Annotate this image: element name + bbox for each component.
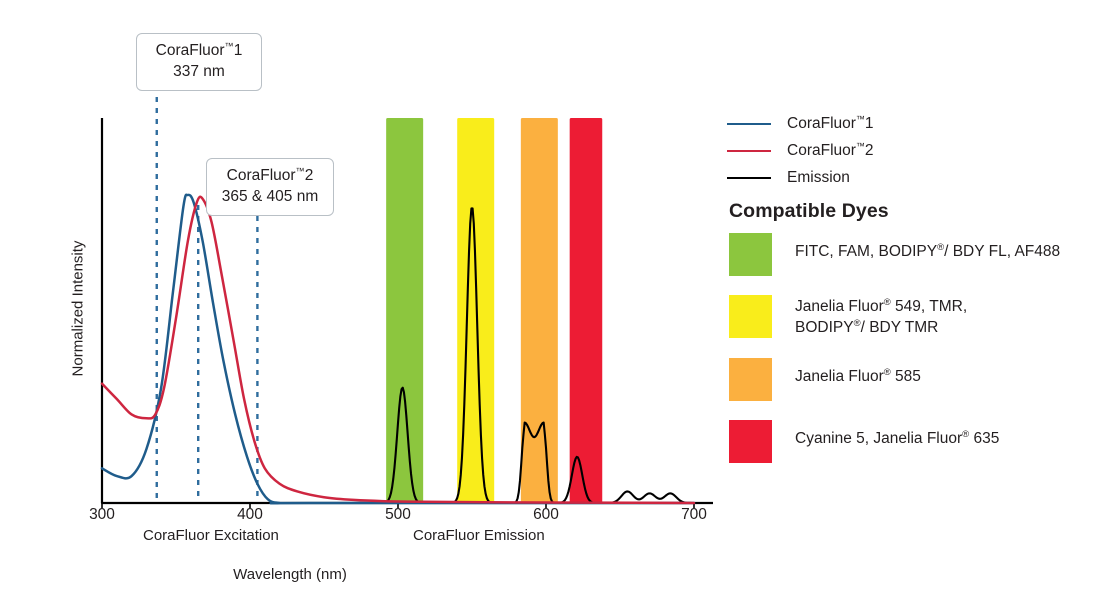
figure-canvas: CoraFluor™1 337 nm CoraFluor™2 365 & 405… <box>0 0 1110 612</box>
callout1-name: CoraFluor <box>156 42 225 59</box>
emission-band-3 <box>570 118 603 503</box>
x-tick-label-500: 500 <box>378 506 418 524</box>
x-axis-title: Wavelength (nm) <box>0 566 580 583</box>
legend-item-2[interactable]: Emission <box>727 164 1087 191</box>
callout2-trademark: ™ <box>296 166 305 176</box>
compatible-dyes-list: FITC, FAM, BODIPY®/ BDY FL, AF488Janelia… <box>729 233 1104 482</box>
emission-band-2 <box>521 118 558 503</box>
dye-label: Janelia Fluor® 549, TMR,BODIPY®/ BDY TMR <box>795 295 967 339</box>
dye-color-swatch <box>729 420 772 463</box>
callout2-name: CoraFluor <box>227 167 296 184</box>
dye-label: Janelia Fluor® 585 <box>795 358 921 388</box>
dye-color-swatch <box>729 358 772 401</box>
legend-item-1[interactable]: CoraFluor™2 <box>727 137 1087 164</box>
dye-row-0[interactable]: FITC, FAM, BODIPY®/ BDY FL, AF488 <box>729 233 1104 276</box>
callout2-suffix: 2 <box>305 167 314 184</box>
x-tick-label-300: 300 <box>82 506 122 524</box>
y-axis-title: Normalized Intensity <box>70 209 87 409</box>
legend-line-swatch-icon <box>727 123 771 125</box>
dye-color-swatch <box>729 295 772 338</box>
dye-label: Cyanine 5, Janelia Fluor® 635 <box>795 420 999 450</box>
x-tick-label-700: 700 <box>674 506 714 524</box>
legend-item-label: Emission <box>787 169 850 187</box>
legend-line-swatch-icon <box>727 150 771 152</box>
callout-corafluor1: CoraFluor™1 337 nm <box>136 33 262 91</box>
legend-item-0[interactable]: CoraFluor™1 <box>727 110 1087 137</box>
series-legend: CoraFluor™1CoraFluor™2Emission <box>727 110 1087 191</box>
dye-row-1[interactable]: Janelia Fluor® 549, TMR,BODIPY®/ BDY TMR <box>729 295 1104 339</box>
x-tick-label-400: 400 <box>230 506 270 524</box>
callout1-value: 337 nm <box>173 63 225 80</box>
legend-item-label: CoraFluor™2 <box>787 141 874 160</box>
callout1-suffix: 1 <box>234 42 243 59</box>
callout2-value: 365 & 405 nm <box>222 188 319 205</box>
callout-corafluor2: CoraFluor™2 365 & 405 nm <box>206 158 334 216</box>
callout1-trademark: ™ <box>225 41 234 51</box>
dye-row-3[interactable]: Cyanine 5, Janelia Fluor® 635 <box>729 420 1104 463</box>
dye-label: FITC, FAM, BODIPY®/ BDY FL, AF488 <box>795 233 1060 263</box>
legend-item-label: CoraFluor™1 <box>787 114 874 133</box>
dye-color-swatch <box>729 233 772 276</box>
region-label-emission: CoraFluor Emission <box>413 527 545 544</box>
emission-band-group <box>386 118 602 503</box>
emission-band-0 <box>386 118 423 503</box>
compatible-dyes-title: Compatible Dyes <box>729 200 889 223</box>
x-tick-label-600: 600 <box>526 506 566 524</box>
region-label-excitation: CoraFluor Excitation <box>143 527 279 544</box>
dye-row-2[interactable]: Janelia Fluor® 585 <box>729 358 1104 401</box>
legend-line-swatch-icon <box>727 177 771 179</box>
